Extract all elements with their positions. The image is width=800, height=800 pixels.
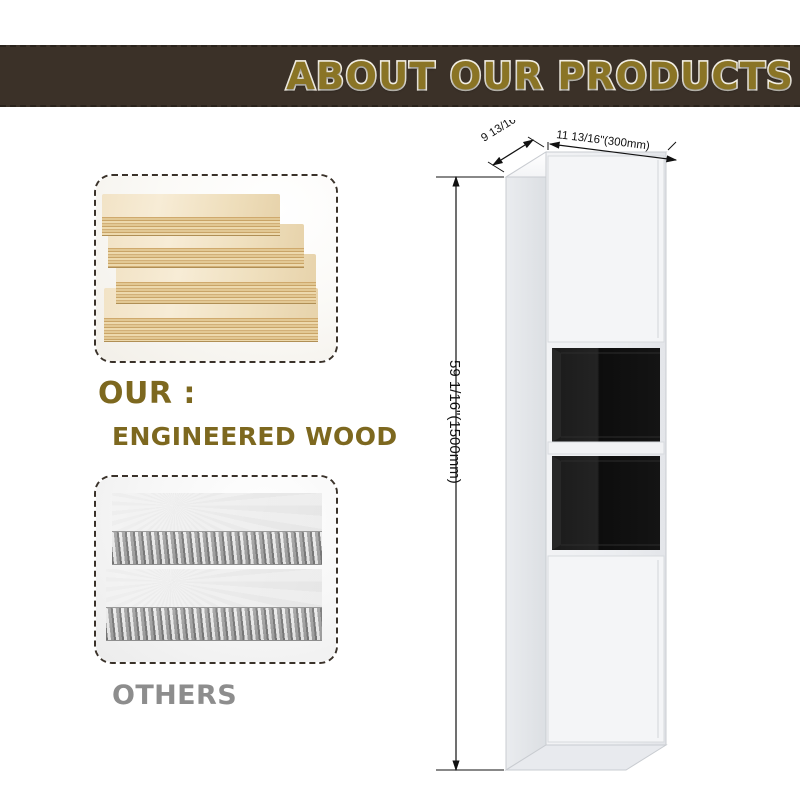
shelf-divider-panel [548, 442, 664, 454]
depth-dimension-arrow [493, 140, 533, 165]
our-material-prefix-label: OUR : [98, 376, 196, 411]
cabinet-svg: 9 13/16"(250mm) 11 13/16"(300mm) 59 1/16… [400, 120, 800, 800]
plywood-illustration [96, 176, 336, 361]
particle-board-slab [112, 493, 322, 565]
depth-dimension-label: 9 13/16"(250mm) [479, 120, 561, 145]
particle-board-photo [94, 475, 338, 664]
infographic-page: ABOUT OUR PRODUCTS OUR : [0, 0, 800, 800]
width-extension-line-b [668, 142, 676, 150]
cabinet-side-panel [506, 152, 546, 770]
engineered-wood-photo [94, 174, 338, 363]
cabinet-lower-door[interactable] [548, 556, 664, 742]
product-dimension-diagram: 9 13/16"(250mm) 11 13/16"(300mm) 59 1/16… [400, 120, 800, 800]
shelf-lower-inner-side [552, 456, 561, 550]
plywood-sheet [102, 194, 280, 236]
page-title: ABOUT OUR PRODUCTS [286, 58, 800, 95]
material-comparison-column: OUR : ENGINEERED WOOD OTHERS [0, 120, 430, 780]
header-banner: ABOUT OUR PRODUCTS [0, 45, 800, 107]
open-shelf-lower [552, 456, 660, 550]
cabinet-upper-door[interactable] [548, 156, 664, 342]
particle-board-slab [106, 569, 322, 641]
shelf-upper-inner-side [552, 348, 561, 442]
open-shelf-upper [552, 348, 660, 442]
other-material-name-label: OTHERS [112, 680, 237, 711]
particle-board-illustration [96, 477, 336, 662]
width-dimension-label: 11 13/16"(300mm) [556, 129, 651, 152]
our-material-name-label: ENGINEERED WOOD [112, 422, 398, 451]
height-dimension-label: 59 1/16"(1500mm) [446, 360, 463, 484]
